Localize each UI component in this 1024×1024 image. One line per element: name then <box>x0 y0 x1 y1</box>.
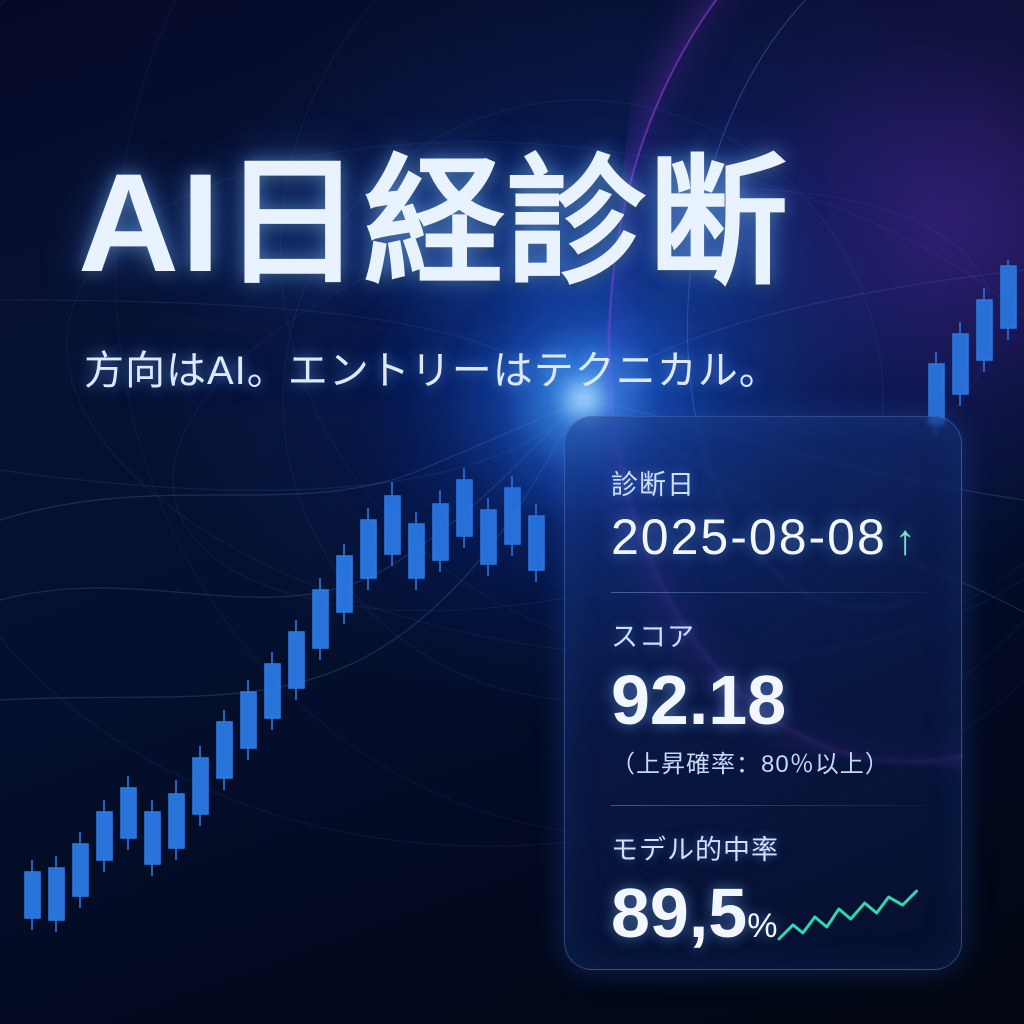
accuracy-unit: % <box>747 907 777 945</box>
score-note: （上昇確率：80％以上） <box>611 744 927 779</box>
page-subtitle: 方向はAI。エントリーはテクニカル。 <box>84 338 964 396</box>
accuracy-value: 89,5 <box>611 874 747 952</box>
card-divider <box>611 805 927 806</box>
diagnosis-card: 診断日 2025-08-08↑ スコア 92.18 （上昇確率：80％以上） モ… <box>564 416 962 970</box>
accuracy-label: モデル的中率 <box>611 828 927 867</box>
date-label: 診断日 <box>611 463 927 502</box>
center-light-burst <box>583 399 585 401</box>
card-section-date: 診断日 2025-08-08↑ <box>611 463 927 566</box>
arrow-up-icon: ↑ <box>895 516 918 563</box>
accuracy-value-row: 89,5% <box>611 873 777 953</box>
accuracy-row: 89,5% <box>611 867 927 953</box>
poster-root: AI日経診断 方向はAI。エントリーはテクニカル。 診断日 2025-08-08… <box>0 0 1024 1024</box>
card-divider <box>611 592 927 593</box>
score-value: 92.18 <box>611 660 927 740</box>
sparkline-up-icon <box>777 887 927 947</box>
card-section-accuracy: モデル的中率 89,5% <box>611 828 927 953</box>
score-label: スコア <box>611 615 927 654</box>
page-title: AI日経診断 <box>78 152 958 295</box>
date-value-row: 2025-08-08↑ <box>611 508 927 566</box>
card-section-score: スコア 92.18 （上昇確率：80％以上） <box>611 615 927 779</box>
date-value: 2025-08-08 <box>611 509 887 565</box>
